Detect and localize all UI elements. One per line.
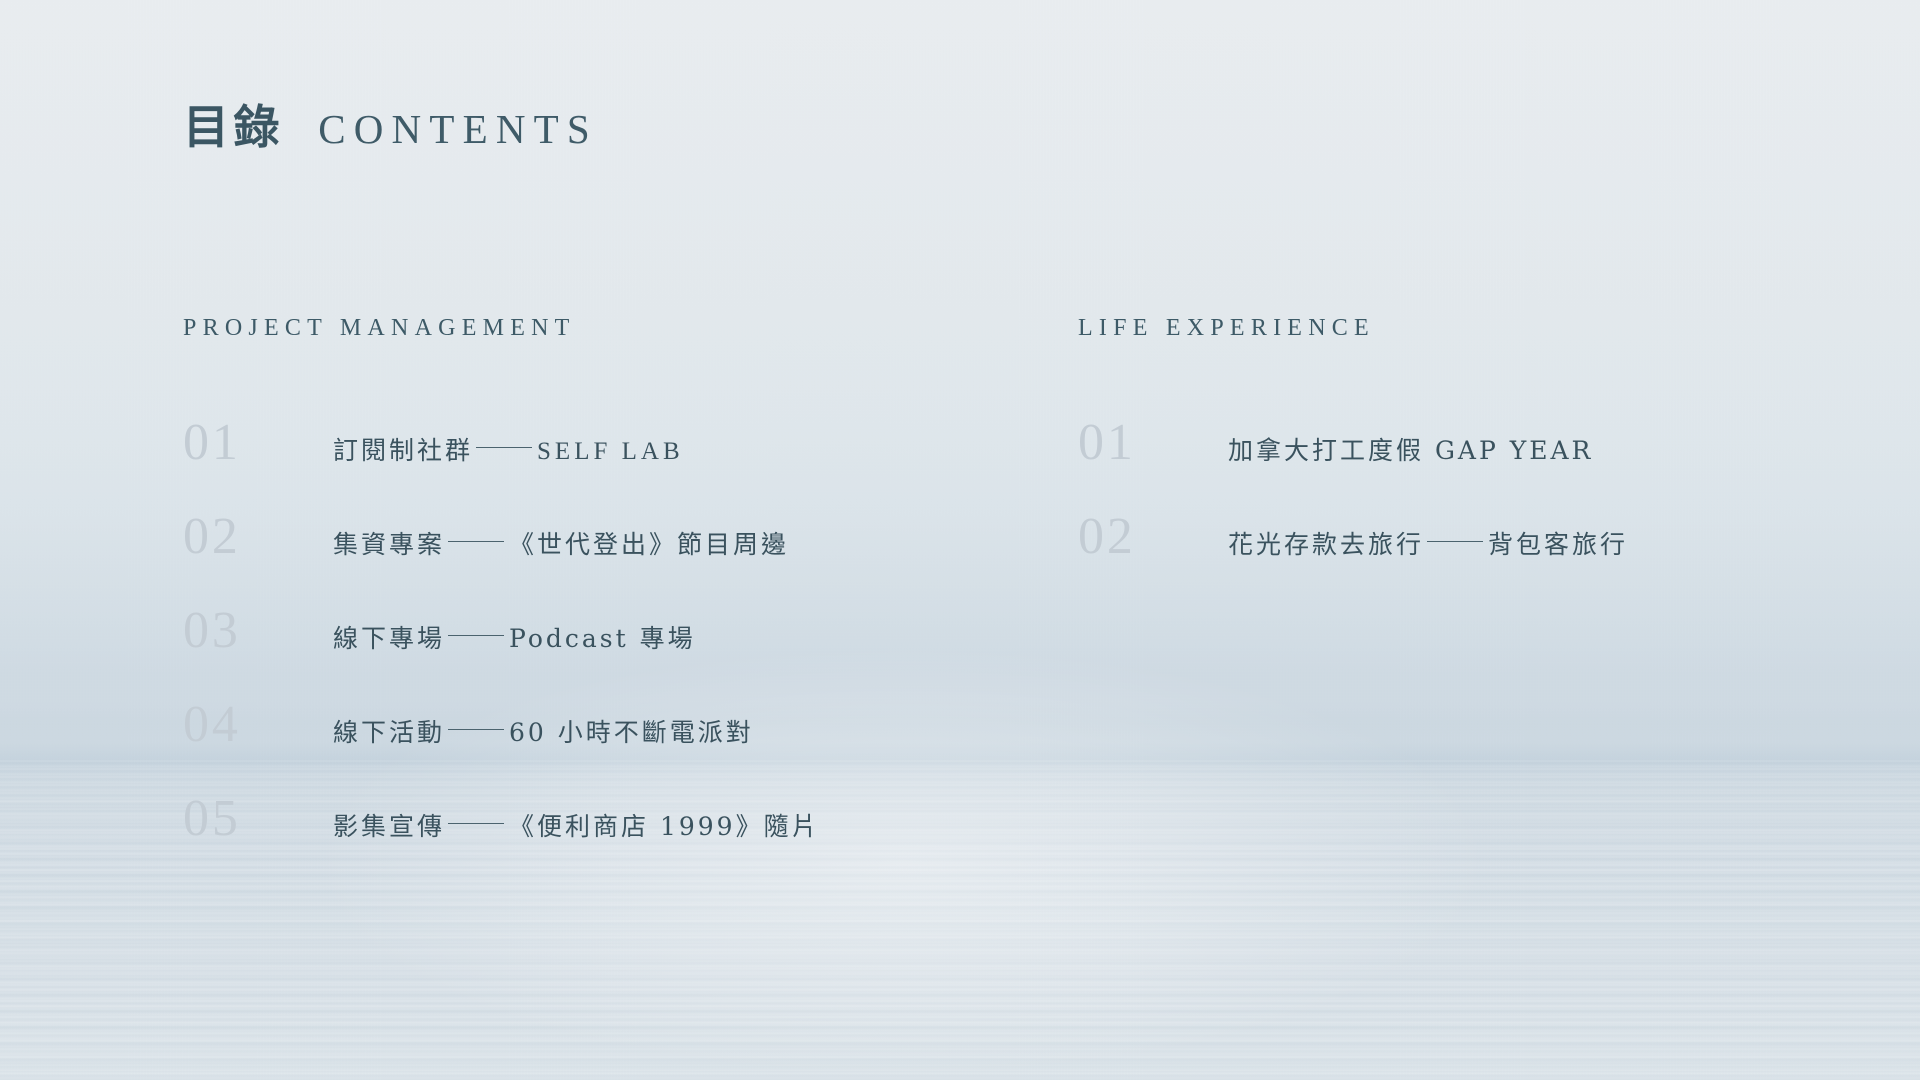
contents-entry[interactable]: 01訂閱制社群SELF LAB: [183, 417, 820, 511]
entry-label: 線下專場: [333, 624, 445, 653]
page-title: 目錄 CONTENTS: [183, 104, 598, 150]
entry-number: 01: [1078, 417, 1228, 469]
contents-entry[interactable]: 02花光存款去旅行背包客旅行: [1078, 511, 1628, 563]
entry-detail: SELF LAB: [537, 438, 684, 465]
entry-detail: 《便利商店 1999》隨片: [509, 812, 820, 841]
page-title-cjk: 目錄: [183, 104, 284, 150]
entry-label: 線下活動: [333, 718, 445, 747]
contents-entry[interactable]: 05影集宣傳《便利商店 1999》隨片: [183, 793, 820, 845]
entry-detail: Podcast 專場: [509, 624, 696, 653]
contents-list-left: 01訂閱制社群SELF LAB02集資專案《世代登出》節目周邊03線下專場Pod…: [183, 417, 820, 845]
entry-text: 線下專場Podcast 專場: [333, 626, 696, 651]
entry-text: 花光存款去旅行背包客旅行: [1228, 532, 1628, 557]
entry-text: 集資專案《世代登出》節目周邊: [333, 532, 789, 557]
entry-separator-rule: [476, 447, 532, 449]
entry-label: 訂閱制社群: [333, 436, 473, 465]
entry-detail: 60 小時不斷電派對: [509, 718, 754, 747]
entry-label: 花光存款去旅行: [1228, 530, 1424, 559]
entry-number: 03: [183, 605, 333, 657]
entry-text: 影集宣傳《便利商店 1999》隨片: [333, 814, 820, 839]
section-life-experience: LIFE EXPERIENCE 01加拿大打工度假 GAP YEAR02花光存款…: [1078, 316, 1628, 563]
entry-detail: 《世代登出》節目周邊: [509, 530, 789, 559]
slide-content: 目錄 CONTENTS PROJECT MANAGEMENT 01訂閱制社群SE…: [0, 0, 1920, 1080]
entry-detail: 背包客旅行: [1488, 530, 1628, 559]
slide-canvas: 目錄 CONTENTS PROJECT MANAGEMENT 01訂閱制社群SE…: [0, 0, 1920, 1080]
entry-number: 02: [1078, 511, 1228, 563]
entry-separator-rule: [448, 635, 504, 637]
page-title-latin: CONTENTS: [318, 109, 598, 150]
section-project-management: PROJECT MANAGEMENT 01訂閱制社群SELF LAB02集資專案…: [183, 316, 820, 845]
entry-label: 加拿大打工度假 GAP YEAR: [1228, 436, 1593, 465]
contents-entry[interactable]: 02集資專案《世代登出》節目周邊: [183, 511, 820, 605]
entry-number: 04: [183, 699, 333, 751]
entry-text: 加拿大打工度假 GAP YEAR: [1228, 438, 1593, 463]
entry-separator-rule: [448, 729, 504, 731]
entry-separator-rule: [448, 823, 504, 825]
section-heading: PROJECT MANAGEMENT: [183, 316, 820, 340]
entry-separator-rule: [448, 541, 504, 543]
contents-list-right: 01加拿大打工度假 GAP YEAR02花光存款去旅行背包客旅行: [1078, 417, 1628, 563]
entry-text: 訂閱制社群SELF LAB: [333, 438, 684, 464]
entry-number: 01: [183, 417, 333, 469]
entry-label: 集資專案: [333, 530, 445, 559]
entry-separator-rule: [1427, 541, 1483, 543]
contents-entry[interactable]: 03線下專場Podcast 專場: [183, 605, 820, 699]
contents-entry[interactable]: 01加拿大打工度假 GAP YEAR: [1078, 417, 1628, 511]
contents-entry[interactable]: 04線下活動60 小時不斷電派對: [183, 699, 820, 793]
entry-number: 02: [183, 511, 333, 563]
entry-text: 線下活動60 小時不斷電派對: [333, 720, 754, 745]
section-heading: LIFE EXPERIENCE: [1078, 316, 1628, 340]
entry-number: 05: [183, 793, 333, 845]
entry-label: 影集宣傳: [333, 812, 445, 841]
